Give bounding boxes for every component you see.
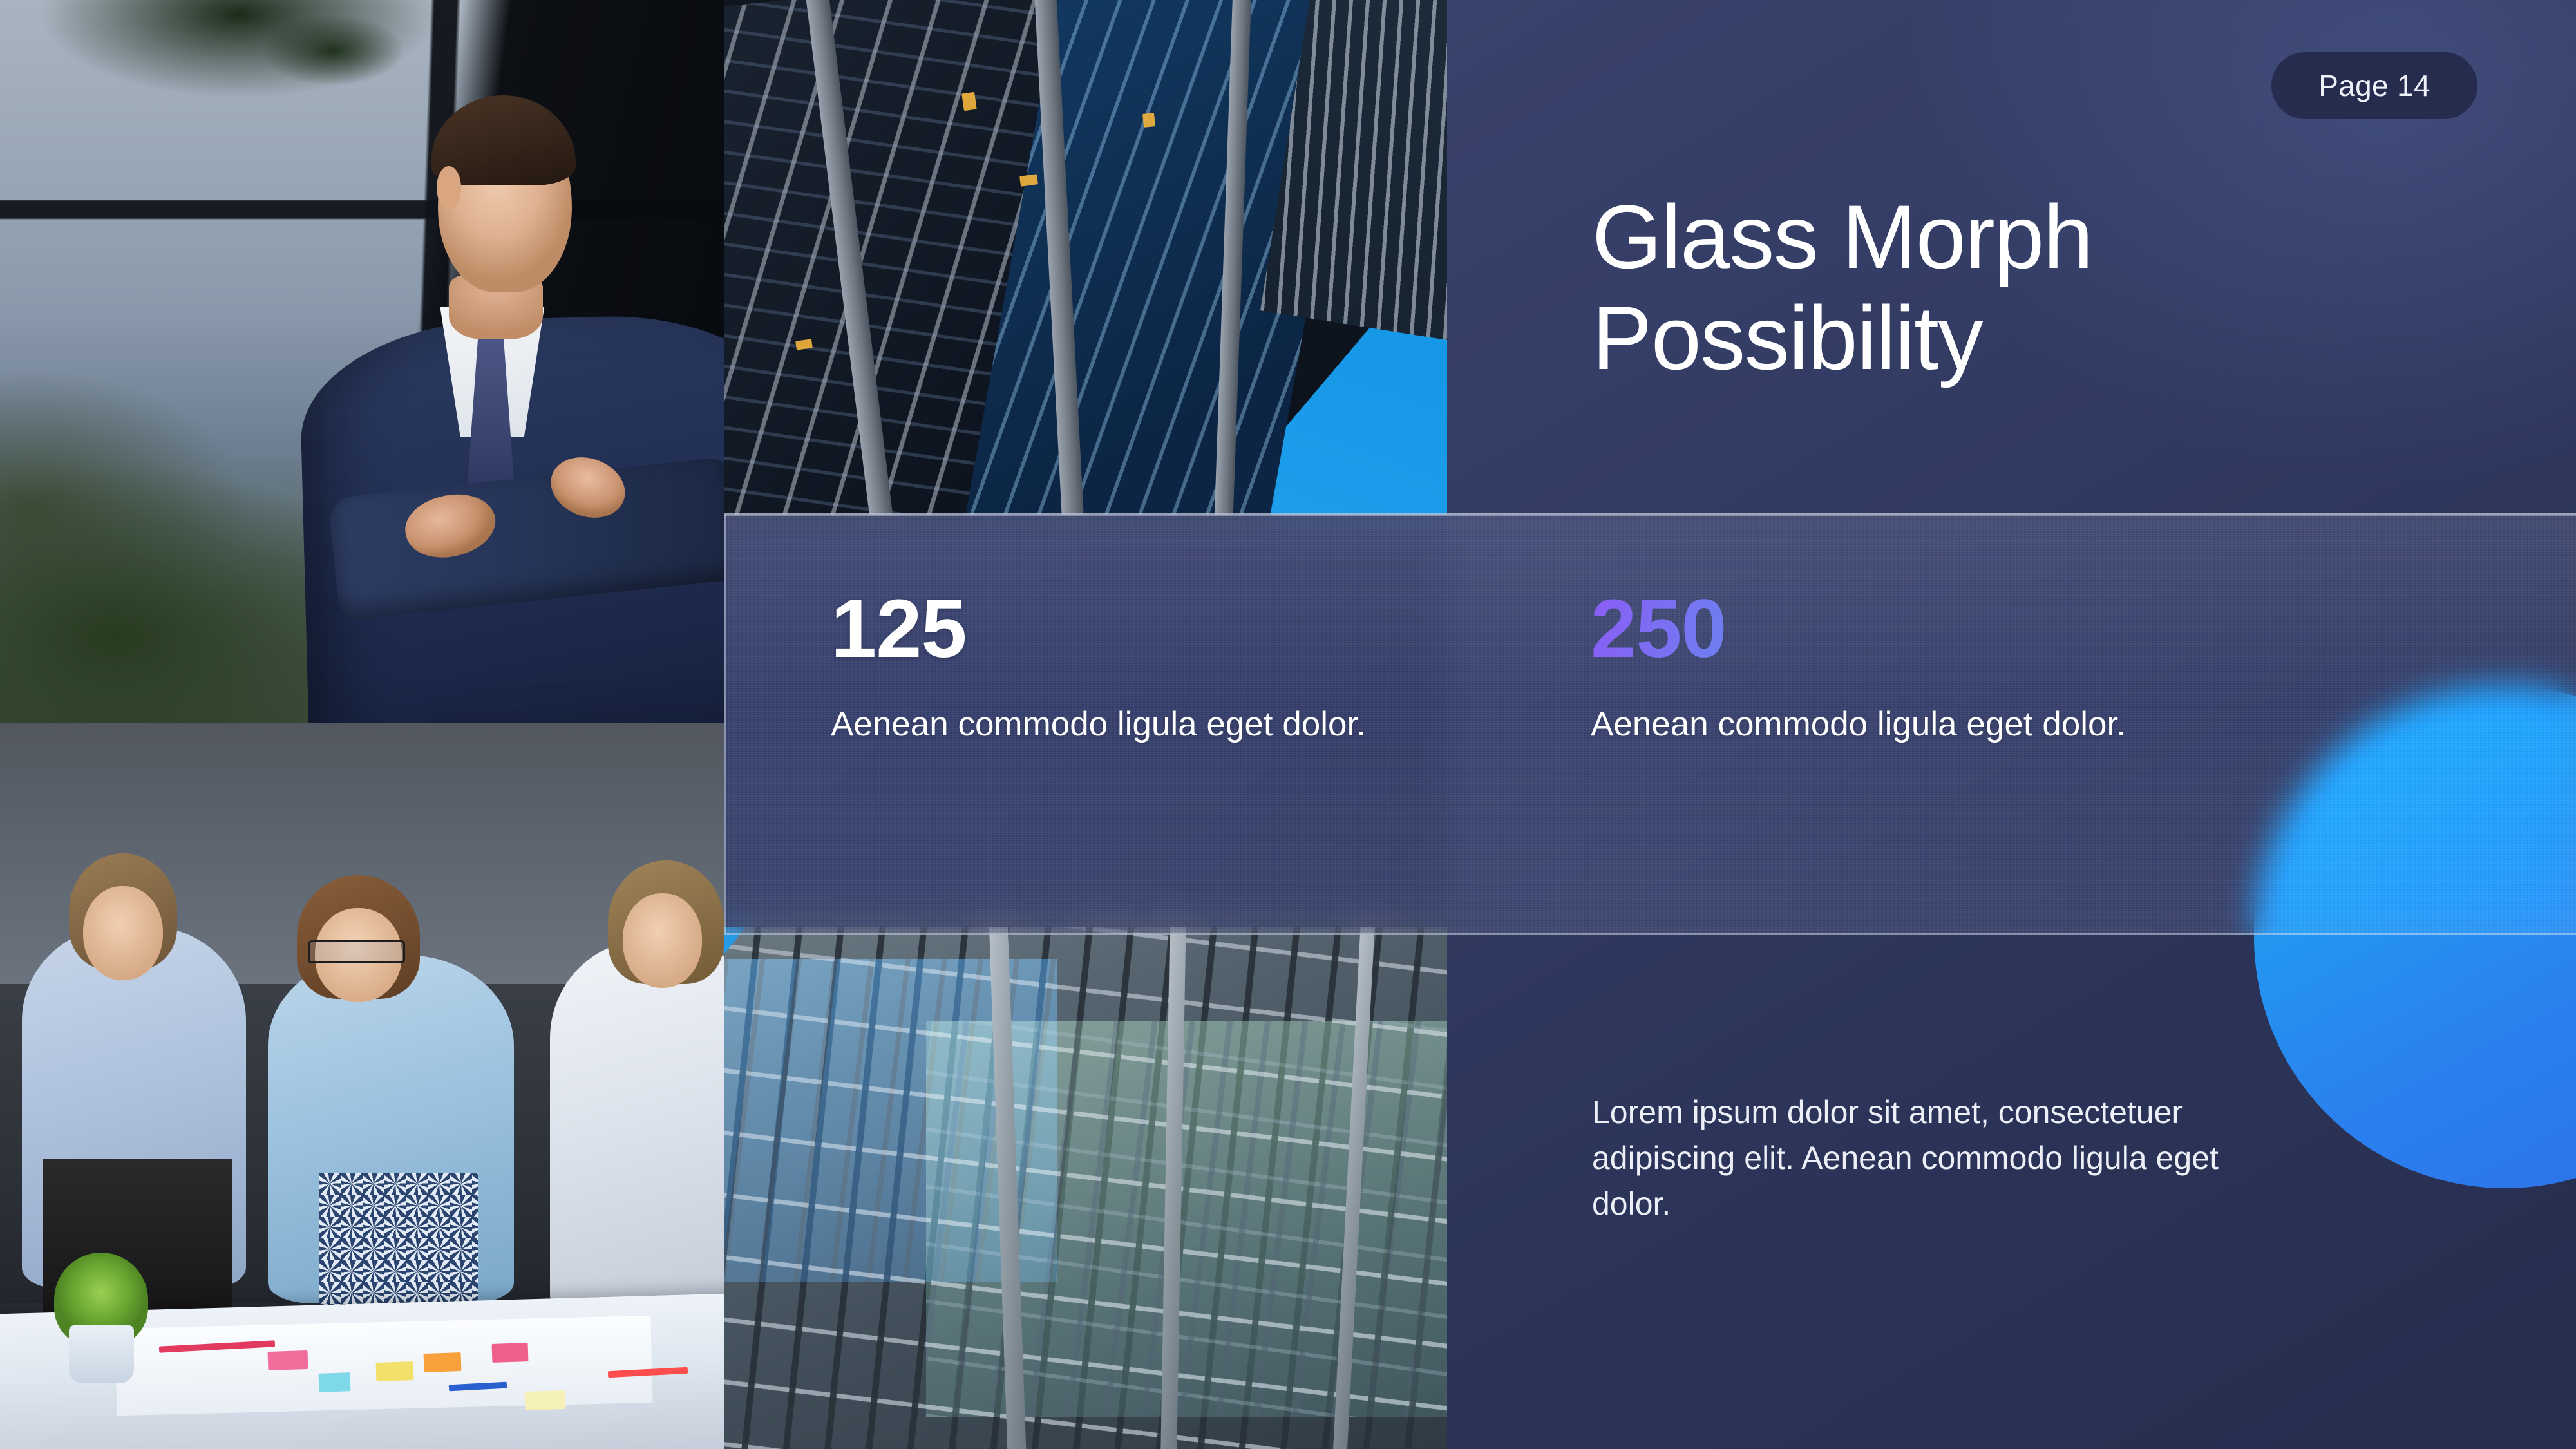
sticky-note — [376, 1361, 414, 1381]
stat-card-125: 125 Aenean commodo ligula eget dolor. — [831, 587, 1410, 746]
woman-right-body — [550, 940, 724, 1318]
glass-left-edge — [724, 515, 726, 933]
sticky-note — [318, 1372, 350, 1392]
lit-window — [1142, 113, 1155, 128]
page-number-label: Page 14 — [2318, 68, 2430, 103]
sticky-note — [492, 1343, 529, 1363]
sticky-note — [267, 1350, 308, 1370]
photo-businessman-portrait — [0, 0, 724, 723]
stat-value: 250 — [1591, 587, 2209, 672]
lit-window — [961, 92, 977, 111]
stat-value: 125 — [831, 587, 1410, 672]
stat-description: Aenean commodo ligula eget dolor. — [831, 703, 1372, 746]
ear-shape — [437, 166, 461, 209]
woman-left-face — [83, 886, 163, 981]
stat-card-250: 250 Aenean commodo ligula eget dolor. — [1591, 587, 2209, 746]
slide-title: Glass Morph Possibility — [1592, 187, 2403, 389]
photo-skyscraper-dusk — [724, 0, 1447, 515]
eyeglasses-shape — [308, 940, 406, 963]
presentation-slide: 125 Aenean commodo ligula eget dolor. 25… — [0, 0, 2576, 1449]
photo-glass-office-block — [724, 927, 1447, 1449]
slide-body-copy: Lorem ipsum dolor sit amet, consectetuer… — [1592, 1090, 2242, 1227]
photo-team-brainstorm — [0, 723, 724, 1449]
woman-right-face — [623, 893, 703, 988]
page-number-badge[interactable]: Page 14 — [2271, 52, 2477, 119]
stat-description: Aenean commodo ligula eget dolor. — [1591, 703, 2132, 746]
sticky-note — [423, 1352, 461, 1372]
plant-pot — [69, 1325, 134, 1383]
sticky-note — [524, 1390, 565, 1410]
